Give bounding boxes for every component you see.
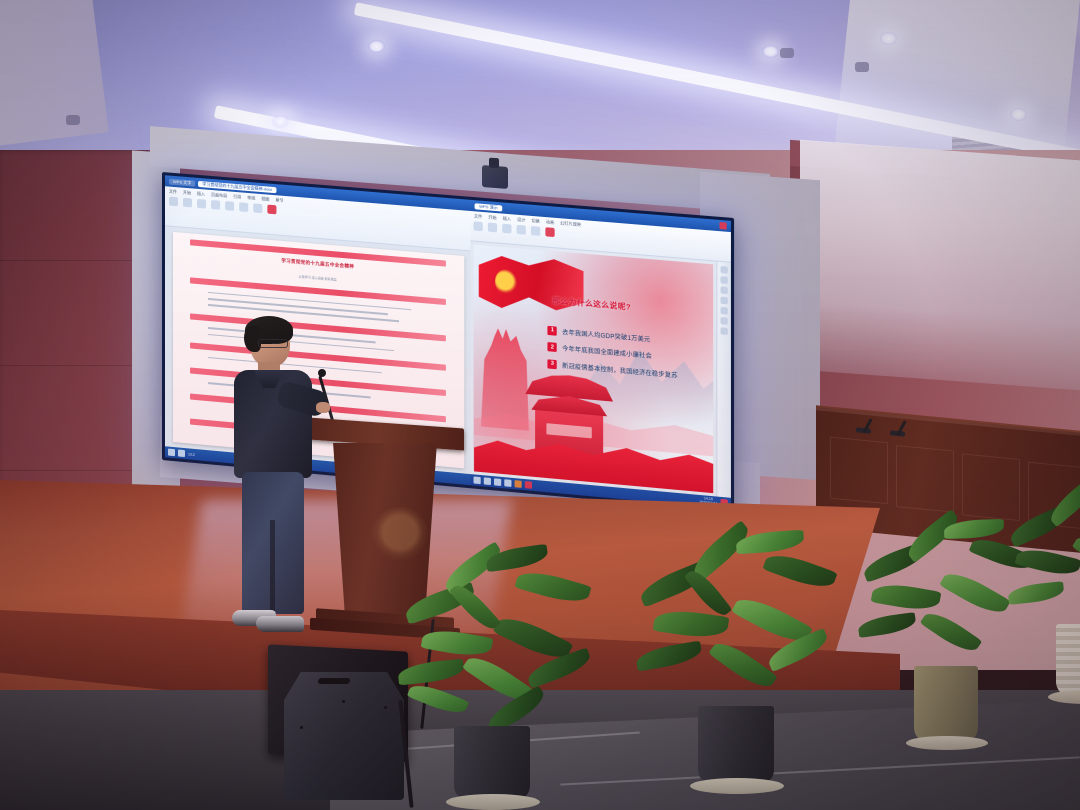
bullet-text: 新冠疫情基本控制，我国经济在稳步复苏 [562, 360, 678, 379]
presenter-shoe [256, 616, 304, 632]
ceiling-sensor-icon [855, 62, 869, 72]
ribbon-menu-item[interactable]: 幻灯片放映 [560, 220, 581, 228]
downlight [272, 115, 289, 128]
plant-pot [454, 726, 530, 800]
app-tab-label[interactable]: WPS 文字 [169, 178, 195, 186]
plant-pot [1056, 624, 1080, 696]
potted-plant-1 [398, 540, 598, 810]
slide-canvas[interactable]: 那么为什么这么说呢? 1 去年我国人均GDP突破1万美元 2 今年年底我国全面建… [471, 241, 716, 496]
presenter [228, 320, 320, 650]
speaker-screw [342, 700, 345, 703]
task-view-icon[interactable] [495, 478, 502, 486]
page-count-icon[interactable] [178, 449, 185, 457]
speaker-handle [317, 678, 350, 684]
shape-icon[interactable] [517, 225, 526, 235]
picture-icon[interactable] [531, 226, 540, 236]
bullet-number: 1 [548, 326, 557, 336]
textbox-icon[interactable] [503, 224, 512, 234]
comment-icon[interactable] [721, 327, 728, 335]
assets-icon[interactable] [721, 286, 728, 294]
style-icon[interactable] [225, 201, 234, 211]
ribbon-menu-item[interactable]: 审阅 [247, 195, 255, 202]
plant-saucer [1048, 690, 1080, 704]
chart-icon[interactable] [721, 297, 728, 305]
party-emblem-icon [495, 269, 516, 296]
presentation-slide[interactable]: 那么为什么这么说呢? 1 去年我国人均GDP突破1万美元 2 今年年底我国全面建… [474, 245, 713, 493]
explorer-icon[interactable] [515, 480, 522, 488]
plant-saucer [446, 794, 540, 810]
presenter-leg-separation [270, 520, 275, 612]
plant-saucer [690, 778, 784, 794]
potted-plant-2 [636, 528, 836, 798]
ribbon-menu-item[interactable]: 文件 [169, 189, 177, 196]
downlight [1010, 108, 1027, 121]
eyeglasses-icon [258, 339, 288, 348]
font-icon[interactable] [197, 199, 206, 209]
ribbon-menu-item[interactable]: 插入 [197, 191, 205, 198]
layout-icon[interactable] [488, 223, 497, 233]
ribbon-menu-item[interactable]: 切换 [531, 218, 539, 225]
potted-plant-4 [1008, 486, 1080, 716]
format-painter-icon[interactable] [183, 198, 192, 208]
downlight [762, 45, 779, 58]
properties-icon[interactable] [721, 266, 728, 274]
bullet-number: 3 [548, 359, 557, 369]
presentation-app-tab[interactable]: WPS 演示 [475, 203, 502, 211]
page-indicator: 1/12 [188, 452, 195, 457]
ribbon-menu-item[interactable]: 开始 [488, 214, 496, 221]
paste-icon[interactable] [169, 197, 178, 207]
paragraph-icon[interactable] [211, 200, 220, 210]
ribbon-menu-item[interactable]: 章节 [275, 197, 283, 204]
select-icon[interactable] [253, 203, 262, 213]
speaker-screw [384, 706, 387, 709]
ribbon-menu-item[interactable]: 视图 [261, 196, 269, 203]
wps-icon[interactable] [525, 481, 532, 489]
slideshow-icon[interactable] [546, 227, 555, 237]
ceiling-soffit [0, 0, 109, 147]
edge-icon[interactable] [505, 479, 512, 487]
shapes-icon[interactable] [721, 307, 728, 315]
ribbon-menu-item[interactable]: 动画 [546, 219, 554, 226]
ribbon-menu-item[interactable]: 文件 [474, 213, 482, 220]
ceiling-sensor-icon [66, 115, 80, 125]
stage-monitor-speaker [284, 672, 404, 800]
speaker-screw [300, 726, 303, 729]
downlight [880, 32, 897, 45]
ceiling-camera-icon [482, 165, 508, 189]
bullet-number: 2 [548, 342, 557, 352]
close-icon[interactable] [719, 222, 726, 230]
start-icon[interactable] [474, 476, 481, 484]
view-mode-icon[interactable] [168, 449, 175, 457]
plant-pot [698, 706, 774, 784]
bullet-text: 今年年底我国全面建成小康社会 [562, 344, 652, 361]
image-icon[interactable] [721, 317, 728, 325]
presenter-hand [316, 402, 330, 413]
new-slide-icon[interactable] [474, 221, 483, 231]
ribbon-menu-item[interactable]: 设计 [517, 217, 525, 224]
ribbon-menu-item[interactable]: 页面布局 [211, 192, 227, 199]
style-panel-icon[interactable] [721, 276, 728, 284]
downlight [368, 40, 385, 53]
find-replace-icon[interactable] [239, 202, 248, 212]
ribbon-menu-item[interactable]: 引用 [233, 194, 241, 201]
ribbon-menu-item[interactable]: 开始 [183, 190, 191, 197]
search-icon[interactable] [484, 477, 491, 485]
wall-light-band [800, 140, 1080, 391]
ribbon-menu-item[interactable]: 插入 [503, 216, 511, 223]
pdf-icon[interactable] [267, 205, 276, 215]
window-wps-presentation[interactable]: WPS 演示 文件 开始 插入 设计 切换 动画 幻灯片放映 [471, 200, 731, 509]
slide-tool-rail[interactable] [716, 262, 731, 498]
conference-hall-scene: WPS 文字 学习贯彻党的十九届五中全会精神.docx 文件 开始 插入 页面布… [0, 0, 1080, 810]
plant-pot [914, 666, 978, 742]
plant-saucer [906, 736, 988, 750]
ceiling-sensor-icon [780, 48, 794, 58]
